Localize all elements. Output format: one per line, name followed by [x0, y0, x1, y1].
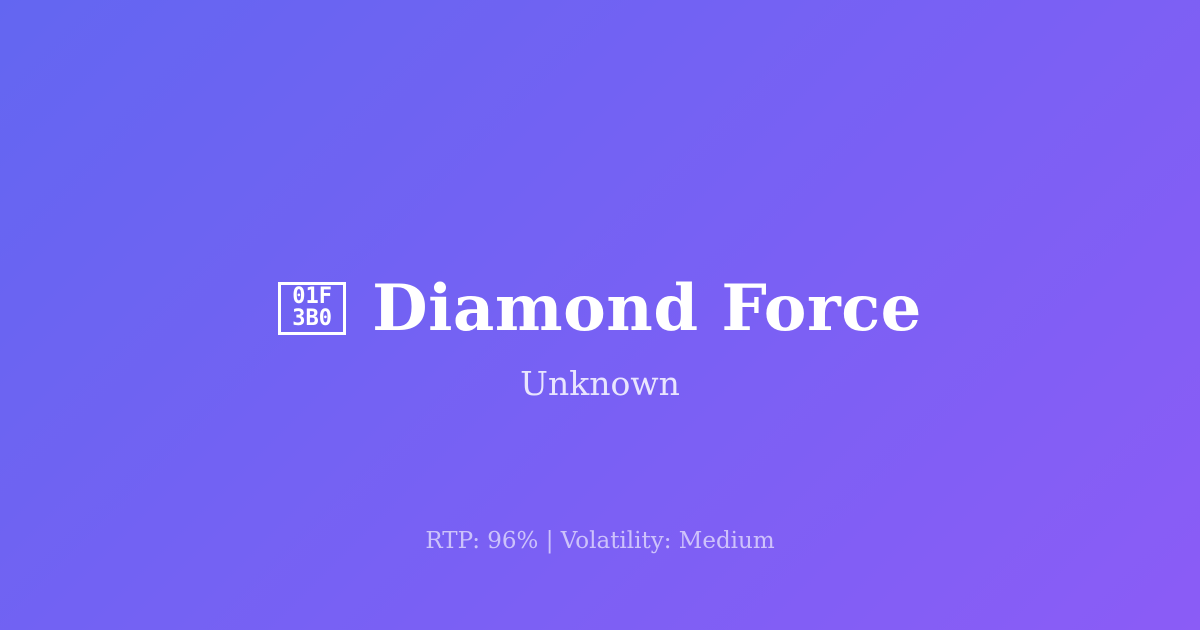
tofu-codepoint-line-2: 3B0 [292, 308, 332, 330]
title-row: 01F 3B0 Diamond Force [0, 232, 1200, 385]
game-preview-card: 01F 3B0 Diamond Force Unknown RTP: 96% |… [0, 0, 1200, 630]
game-stats: RTP: 96% | Volatility: Medium [0, 528, 1200, 556]
game-title: Diamond Force [372, 275, 922, 342]
tofu-codepoint-line-1: 01F [292, 286, 332, 308]
slot-machine-icon: 01F 3B0 [278, 282, 346, 335]
game-provider: Unknown [0, 364, 1200, 404]
